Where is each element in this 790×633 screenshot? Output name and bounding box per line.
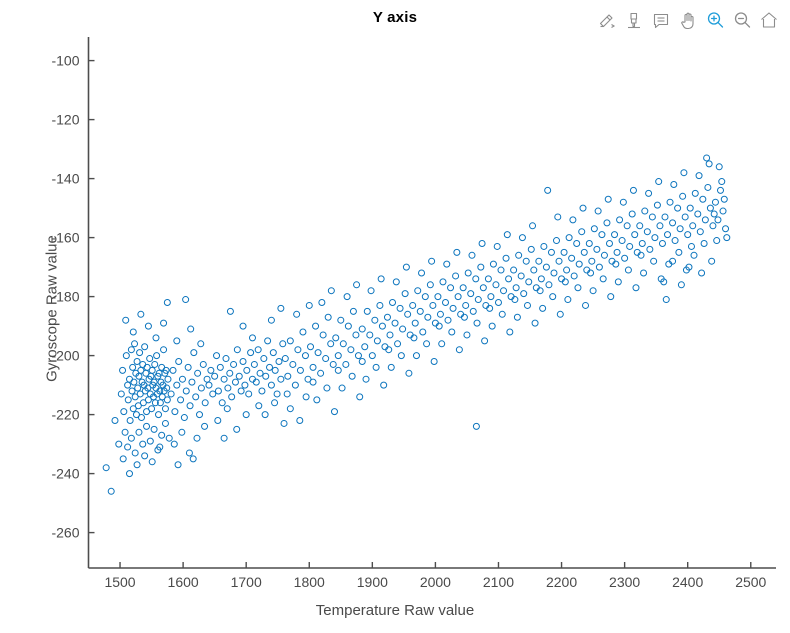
scatter-point bbox=[695, 211, 701, 217]
scatter-point bbox=[511, 267, 517, 273]
scatter-point bbox=[335, 367, 341, 373]
scatter-point bbox=[302, 353, 308, 359]
scatter-point bbox=[178, 397, 184, 403]
scatter-point bbox=[712, 199, 718, 205]
scatter-point bbox=[615, 279, 621, 285]
scatter-point bbox=[622, 255, 628, 261]
scatter-point bbox=[120, 367, 126, 373]
scatter-point bbox=[162, 406, 168, 412]
scatter-point bbox=[284, 391, 290, 397]
scatter-point bbox=[468, 291, 474, 297]
scatter-point bbox=[586, 241, 592, 247]
scatter-point bbox=[170, 367, 176, 373]
scatter-point bbox=[359, 359, 365, 365]
x-tick-label: 2400 bbox=[672, 574, 703, 590]
scatter-point bbox=[353, 332, 359, 338]
scatter-point bbox=[605, 196, 611, 202]
scatter-point bbox=[259, 388, 265, 394]
scatter-point bbox=[656, 179, 662, 185]
scatter-point bbox=[272, 400, 278, 406]
scatter-point bbox=[308, 344, 314, 350]
scatter-point bbox=[287, 338, 293, 344]
scatter-point bbox=[667, 199, 673, 205]
scatter-point bbox=[129, 388, 135, 394]
scatter-point bbox=[194, 435, 200, 441]
scatter-point bbox=[240, 359, 246, 365]
scatter-point bbox=[506, 276, 512, 282]
scatter-point bbox=[149, 459, 155, 465]
scatter-point bbox=[330, 361, 336, 367]
scatter-point bbox=[142, 453, 148, 459]
scatter-point bbox=[625, 267, 631, 273]
scatter-point bbox=[171, 441, 177, 447]
scatter-point bbox=[498, 267, 504, 273]
x-axis-label: Temperature Raw value bbox=[0, 602, 790, 619]
scatter-point bbox=[430, 302, 436, 308]
scatter-point bbox=[338, 317, 344, 323]
scatter-point bbox=[179, 429, 185, 435]
scatter-point bbox=[125, 397, 131, 403]
scatter-point bbox=[596, 264, 602, 270]
scatter-point bbox=[570, 217, 576, 223]
scatter-point bbox=[214, 353, 220, 359]
scatter-point bbox=[617, 217, 623, 223]
scatter-point bbox=[215, 418, 221, 424]
scatter-point bbox=[350, 308, 356, 314]
scatter-point bbox=[531, 267, 537, 273]
x-tick-label: 1900 bbox=[357, 574, 388, 590]
scatter-point bbox=[619, 238, 625, 244]
scatter-point bbox=[714, 238, 720, 244]
scatter-point bbox=[443, 300, 449, 306]
scatter-point bbox=[206, 382, 212, 388]
scatter-point bbox=[406, 370, 412, 376]
scatter-point bbox=[720, 208, 726, 214]
scatter-point bbox=[672, 238, 678, 244]
scatter-point bbox=[219, 400, 225, 406]
scatter-point bbox=[140, 441, 146, 447]
scatter-point bbox=[234, 426, 240, 432]
scatter-point bbox=[135, 385, 141, 391]
scatter-point bbox=[198, 385, 204, 391]
scatter-point bbox=[368, 288, 374, 294]
scatter-point bbox=[454, 249, 460, 255]
scatter-point bbox=[183, 388, 189, 394]
scatter-point bbox=[268, 317, 274, 323]
scatter-point bbox=[287, 406, 293, 412]
scatter-point bbox=[367, 332, 373, 338]
scatter-point bbox=[142, 344, 148, 350]
scatter-point bbox=[709, 258, 715, 264]
scatter-point bbox=[175, 462, 181, 468]
scatter-point bbox=[186, 450, 192, 456]
scatter-point bbox=[306, 302, 312, 308]
scatter-point bbox=[123, 317, 129, 323]
scatter-point bbox=[162, 420, 168, 426]
scatter-point bbox=[435, 294, 441, 300]
scatter-point bbox=[601, 252, 607, 258]
scatter-point bbox=[680, 193, 686, 199]
scatter-point bbox=[229, 394, 235, 400]
scatter-point bbox=[431, 359, 437, 365]
scatter-point bbox=[469, 252, 475, 258]
scatter-point bbox=[221, 376, 227, 382]
scatter-point bbox=[263, 373, 269, 379]
scatter-point bbox=[227, 370, 233, 376]
y-tick-label: -260 bbox=[51, 525, 79, 541]
scatter-point bbox=[561, 249, 567, 255]
scatter-point bbox=[700, 196, 706, 202]
scatter-point bbox=[325, 314, 331, 320]
scatter-point bbox=[682, 214, 688, 220]
scatter-point bbox=[571, 273, 577, 279]
scatter-point bbox=[417, 308, 423, 314]
scatter-point bbox=[165, 376, 171, 382]
scatter-point bbox=[310, 364, 316, 370]
scatter-point bbox=[425, 314, 431, 320]
scatter-point bbox=[202, 400, 208, 406]
scatter-point bbox=[179, 376, 185, 382]
scatter-point bbox=[620, 199, 626, 205]
scatter-point bbox=[633, 285, 639, 291]
scatter-point bbox=[357, 394, 363, 400]
scatter-point bbox=[445, 317, 451, 323]
scatter-point bbox=[313, 323, 319, 329]
scatter-point bbox=[550, 294, 556, 300]
scatter-point bbox=[696, 173, 702, 179]
scatter-point bbox=[176, 359, 182, 365]
scatter-point bbox=[295, 347, 301, 353]
scatter-point bbox=[121, 409, 127, 415]
scatter-point bbox=[333, 335, 339, 341]
scatter-point bbox=[503, 255, 509, 261]
scatter-point bbox=[310, 379, 316, 385]
scatter-point bbox=[551, 270, 557, 276]
scatter-point bbox=[292, 382, 298, 388]
scatter-point bbox=[473, 423, 479, 429]
scatter-point bbox=[276, 359, 282, 365]
scatter-point bbox=[608, 294, 614, 300]
figure-window: Y axis 150016001700180019002000210022002… bbox=[0, 0, 790, 633]
scatter-point bbox=[373, 364, 379, 370]
scatter-point bbox=[663, 297, 669, 303]
scatter-plot[interactable]: 1500160017001800190020002100220023002400… bbox=[0, 0, 790, 633]
scatter-point bbox=[493, 282, 499, 288]
scatter-point bbox=[331, 409, 337, 415]
scatter-point bbox=[397, 305, 403, 311]
scatter-point bbox=[246, 391, 252, 397]
scatter-point bbox=[711, 211, 717, 217]
scatter-point bbox=[675, 205, 681, 211]
scatter-point bbox=[210, 391, 216, 397]
scatter-point bbox=[281, 420, 287, 426]
scatter-point bbox=[554, 238, 560, 244]
scatter-point bbox=[687, 205, 693, 211]
scatter-point bbox=[128, 435, 134, 441]
scatter-point bbox=[532, 320, 538, 326]
scatter-point bbox=[374, 338, 380, 344]
scatter-point bbox=[232, 379, 238, 385]
scatter-point bbox=[300, 329, 306, 335]
scatter-point bbox=[470, 308, 476, 314]
scatter-point bbox=[130, 329, 136, 335]
scatter-point bbox=[324, 385, 330, 391]
scatter-point bbox=[429, 258, 435, 264]
scatter-point bbox=[369, 353, 375, 359]
scatter-point bbox=[282, 356, 288, 362]
scatter-point bbox=[449, 329, 455, 335]
scatter-point bbox=[704, 155, 710, 161]
y-tick-label: -240 bbox=[51, 466, 79, 482]
scatter-point bbox=[705, 184, 711, 190]
scatter-point bbox=[649, 214, 655, 220]
scatter-point bbox=[166, 435, 172, 441]
scatter-point bbox=[473, 276, 479, 282]
scatter-point bbox=[147, 356, 153, 362]
scatter-point bbox=[395, 341, 401, 347]
scatter-point bbox=[320, 332, 326, 338]
scatter-point bbox=[555, 214, 561, 220]
scatter-point bbox=[690, 223, 696, 229]
scatter-point bbox=[363, 376, 369, 382]
scatter-point bbox=[637, 223, 643, 229]
scatter-point bbox=[453, 273, 459, 279]
scatter-point bbox=[590, 288, 596, 294]
x-tick-label: 1600 bbox=[168, 574, 199, 590]
scatter-point bbox=[540, 305, 546, 311]
scatter-point bbox=[536, 258, 542, 264]
scatter-point bbox=[594, 246, 600, 252]
scatter-point bbox=[419, 270, 425, 276]
scatter-point bbox=[400, 326, 406, 332]
scatter-point bbox=[262, 412, 268, 418]
scatter-point bbox=[595, 208, 601, 214]
scatter-point bbox=[576, 261, 582, 267]
scatter-point bbox=[116, 441, 122, 447]
scatter-point bbox=[688, 243, 694, 249]
y-tick-label: -120 bbox=[51, 112, 79, 128]
scatter-point bbox=[164, 397, 170, 403]
scatter-point bbox=[372, 317, 378, 323]
scatter-point bbox=[424, 341, 430, 347]
scatter-point bbox=[323, 356, 329, 362]
scatter-point bbox=[144, 423, 150, 429]
scatter-point bbox=[103, 465, 109, 471]
scatter-point bbox=[579, 229, 585, 235]
scatter-point bbox=[557, 311, 563, 317]
scatter-point bbox=[127, 418, 133, 424]
scatter-point bbox=[670, 220, 676, 226]
scatter-point bbox=[494, 243, 500, 249]
scatter-point bbox=[127, 471, 133, 477]
scatter-point bbox=[538, 276, 544, 282]
scatter-point bbox=[153, 335, 159, 341]
scatter-point bbox=[200, 361, 206, 367]
scatter-point bbox=[652, 235, 658, 241]
scatter-point bbox=[149, 367, 155, 373]
scatter-point bbox=[339, 385, 345, 391]
scatter-point bbox=[480, 285, 486, 291]
scatter-point bbox=[410, 302, 416, 308]
scatter-point bbox=[624, 223, 630, 229]
scatter-point bbox=[137, 350, 143, 356]
scatter-point bbox=[677, 226, 683, 232]
scatter-point bbox=[265, 338, 271, 344]
scatter-point bbox=[548, 249, 554, 255]
scatter-point bbox=[174, 338, 180, 344]
y-axis-label: Gyroscope Raw value bbox=[44, 159, 61, 459]
scatter-point bbox=[147, 438, 153, 444]
scatter-point bbox=[724, 235, 730, 241]
scatter-point bbox=[315, 350, 321, 356]
scatter-point bbox=[234, 347, 240, 353]
scatter-point bbox=[676, 249, 682, 255]
scatter-point bbox=[244, 367, 250, 373]
scatter-point bbox=[297, 367, 303, 373]
scatter-point bbox=[187, 403, 193, 409]
scatter-point bbox=[149, 406, 155, 412]
scatter-point bbox=[154, 353, 160, 359]
scatter-point bbox=[132, 341, 138, 347]
y-tick-label: -100 bbox=[51, 53, 79, 69]
scatter-point bbox=[303, 394, 309, 400]
scatter-point bbox=[236, 373, 242, 379]
scatter-point bbox=[657, 223, 663, 229]
scatter-point bbox=[439, 341, 445, 347]
scatter-point bbox=[256, 403, 262, 409]
scatter-point bbox=[212, 373, 218, 379]
scatter-point bbox=[248, 350, 254, 356]
scatter-point bbox=[464, 332, 470, 338]
scatter-point bbox=[161, 347, 167, 353]
scatter-point bbox=[606, 241, 612, 247]
scatter-point bbox=[348, 347, 354, 353]
scatter-point bbox=[565, 297, 571, 303]
scatter-point bbox=[297, 418, 303, 424]
scatter-point bbox=[422, 294, 428, 300]
scatter-point bbox=[268, 382, 274, 388]
scatter-point bbox=[314, 397, 320, 403]
scatter-point bbox=[278, 305, 284, 311]
scatter-point bbox=[541, 243, 547, 249]
scatter-point bbox=[521, 291, 527, 297]
scatter-point bbox=[564, 267, 570, 273]
scatter-point bbox=[450, 305, 456, 311]
x-tick-label: 2100 bbox=[483, 574, 514, 590]
scatter-point bbox=[159, 432, 165, 438]
scatter-point bbox=[612, 232, 618, 238]
scatter-point bbox=[659, 241, 665, 247]
scatter-point bbox=[185, 364, 191, 370]
scatter-point bbox=[463, 302, 469, 308]
scatter-point bbox=[120, 456, 126, 462]
scatter-point bbox=[359, 326, 365, 332]
scatter-point bbox=[420, 329, 426, 335]
scatter-point bbox=[495, 300, 501, 306]
scatter-point bbox=[546, 282, 552, 288]
scatter-point bbox=[448, 285, 454, 291]
scatter-point bbox=[195, 370, 201, 376]
scatter-point bbox=[128, 347, 134, 353]
scatter-point bbox=[403, 264, 409, 270]
scatter-point bbox=[642, 208, 648, 214]
scatter-point bbox=[274, 391, 280, 397]
scatter-point bbox=[415, 288, 421, 294]
scatter-point bbox=[583, 302, 589, 308]
x-tick-label: 2300 bbox=[609, 574, 640, 590]
scatter-point bbox=[378, 276, 384, 282]
scatter-point bbox=[340, 341, 346, 347]
scatter-point bbox=[294, 311, 300, 317]
scatter-point bbox=[174, 382, 180, 388]
scatter-point bbox=[118, 391, 124, 397]
scatter-point bbox=[318, 370, 324, 376]
scatter-point bbox=[156, 412, 162, 418]
scatter-point bbox=[152, 361, 158, 367]
scatter-point bbox=[530, 223, 536, 229]
scatter-point bbox=[349, 373, 355, 379]
scatter-point bbox=[718, 187, 724, 193]
scatter-point bbox=[132, 450, 138, 456]
x-tick-label: 2500 bbox=[735, 574, 766, 590]
scatter-point bbox=[345, 323, 351, 329]
scatter-point bbox=[710, 223, 716, 229]
scatter-point bbox=[692, 190, 698, 196]
scatter-point bbox=[242, 382, 248, 388]
scatter-point bbox=[208, 367, 214, 373]
scatter-point bbox=[381, 382, 387, 388]
scatter-point bbox=[575, 285, 581, 291]
scatter-point bbox=[131, 379, 137, 385]
scatter-point bbox=[151, 426, 157, 432]
scatter-point bbox=[379, 323, 385, 329]
scatter-point bbox=[475, 297, 481, 303]
scatter-point bbox=[523, 258, 529, 264]
scatter-point bbox=[138, 415, 144, 421]
scatter-point bbox=[482, 338, 488, 344]
scatter-point bbox=[647, 246, 653, 252]
scatter-point bbox=[136, 429, 142, 435]
scatter-point bbox=[231, 361, 237, 367]
scatter-point bbox=[465, 270, 471, 276]
scatter-point bbox=[127, 376, 133, 382]
scatter-point bbox=[507, 329, 513, 335]
scatter-point bbox=[707, 205, 713, 211]
scatter-point bbox=[398, 353, 404, 359]
scatter-point bbox=[140, 361, 146, 367]
scatter-point bbox=[504, 232, 510, 238]
scatter-point bbox=[392, 320, 398, 326]
scatter-point bbox=[123, 353, 129, 359]
scatter-point bbox=[172, 409, 178, 415]
scatter-point bbox=[125, 444, 131, 450]
scatter-point bbox=[221, 435, 227, 441]
scatter-point bbox=[251, 361, 257, 367]
scatter-point bbox=[474, 320, 480, 326]
scatter-point bbox=[599, 232, 605, 238]
scatter-point bbox=[189, 379, 195, 385]
scatter-point bbox=[130, 364, 136, 370]
scatter-point bbox=[319, 300, 325, 306]
scatter-point bbox=[285, 373, 291, 379]
scatter-point bbox=[412, 320, 418, 326]
scatter-point bbox=[516, 252, 522, 258]
scatter-point bbox=[384, 314, 390, 320]
scatter-point bbox=[364, 308, 370, 314]
scatter-point bbox=[125, 382, 131, 388]
scatter-point bbox=[513, 285, 519, 291]
scatter-point bbox=[721, 196, 727, 202]
